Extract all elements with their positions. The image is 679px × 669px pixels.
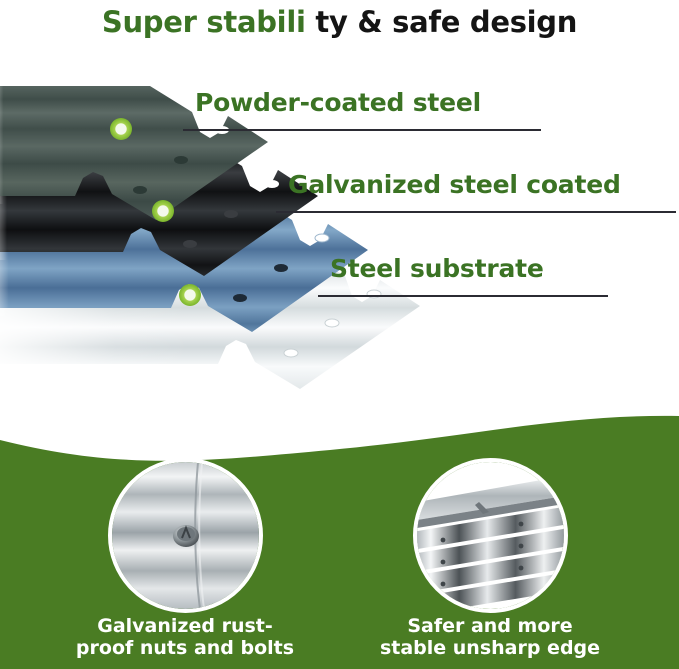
callout-dot-powder-coated xyxy=(110,118,132,140)
feature-photo-galvanized-bolt xyxy=(108,458,263,613)
feature-photo-rolled-edge xyxy=(413,458,568,613)
feature-caption-bolts: Galvanized rust- proof nuts and bolts xyxy=(55,615,315,659)
feature-caption-edge-line1: Safer and more xyxy=(360,615,620,637)
page-title: Super stabili ty & safe design xyxy=(0,0,679,44)
title-green-text: Super stabili xyxy=(102,5,306,39)
callout-dot-steel-substrate xyxy=(179,284,201,306)
callout-label-galvanized: Galvanized steel coated xyxy=(288,170,621,199)
callout-label-steel-substrate: Steel substrate xyxy=(330,254,544,283)
feature-caption-bolts-line2: proof nuts and bolts xyxy=(55,637,315,659)
title-black-text: ty & safe design xyxy=(306,5,578,39)
callout-label-powder-coated: Powder-coated steel xyxy=(195,88,481,117)
callout-dot-galvanized xyxy=(152,200,174,222)
feature-caption-edge: Safer and more stable unsharp edge xyxy=(360,615,620,659)
leader-line-galvanized xyxy=(276,211,676,213)
feature-caption-edge-line2: stable unsharp edge xyxy=(360,637,620,659)
leader-line-powder-coated xyxy=(183,129,541,131)
feature-caption-bolts-line1: Galvanized rust- xyxy=(55,615,315,637)
leader-line-steel-substrate xyxy=(318,295,608,297)
